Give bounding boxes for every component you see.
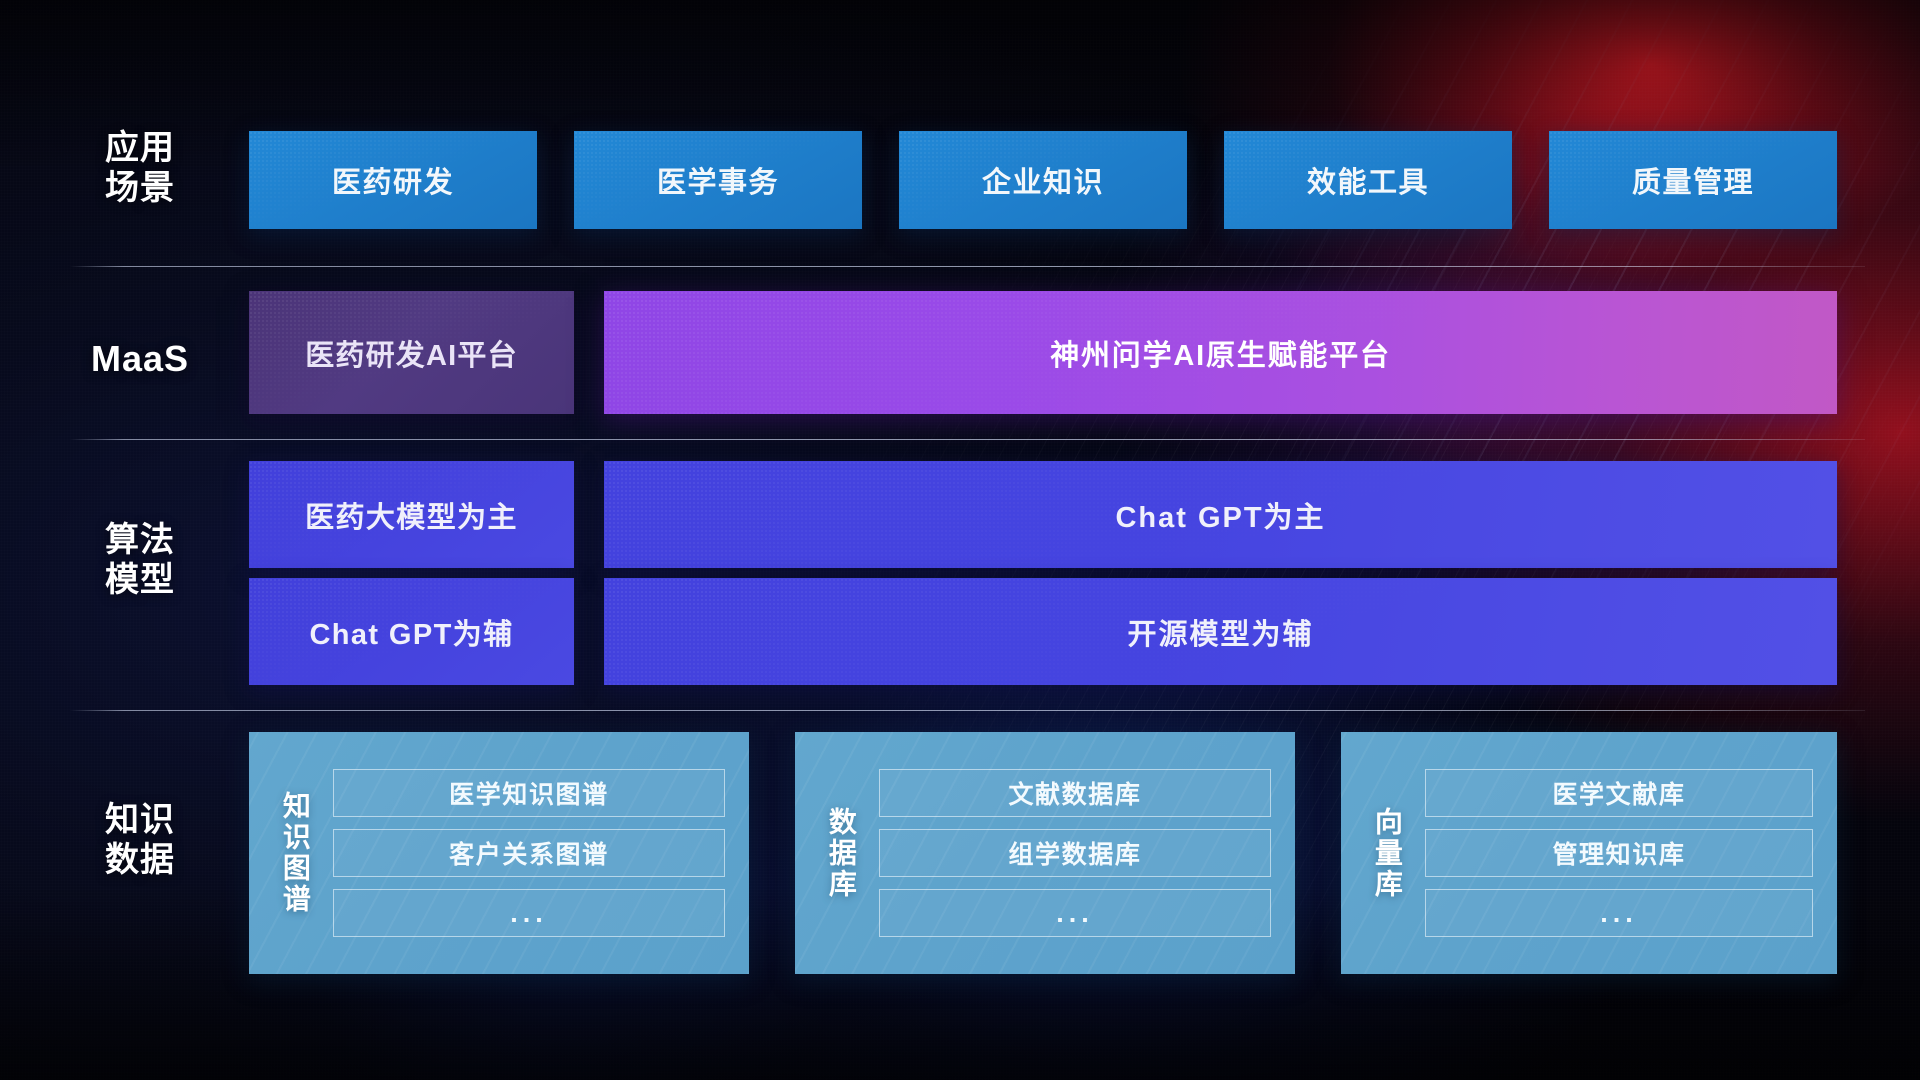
knowledge-item[interactable]: 组学数据库 (879, 829, 1271, 877)
knowledge-panel-items: 医学文献库 管理知识库 ... (1425, 769, 1813, 937)
maas-box-label: 医药研发AI平台 (305, 332, 518, 374)
maas-box-shenzhou-wenxue-platform[interactable]: 神州问学AI原生赋能平台 (604, 291, 1837, 414)
knowledge-panel-database[interactable]: 数据库 文献数据库 组学数据库 ... (795, 732, 1295, 974)
algo-box-label: Chat GPT为主 (1115, 494, 1325, 536)
knowledge-item[interactable]: 文献数据库 (879, 769, 1271, 817)
knowledge-item-more[interactable]: ... (1425, 889, 1813, 937)
divider-application-maas (70, 266, 1865, 267)
maas-box-label: 神州问学AI原生赋能平台 (1050, 332, 1391, 374)
app-box-efficiency-tools[interactable]: 效能工具 (1224, 131, 1512, 229)
row-label-application: 应用 场景 (70, 128, 210, 208)
knowledge-panel-title: 知识图谱 (279, 791, 311, 915)
knowledge-panel-items: 医学知识图谱 客户关系图谱 ... (333, 769, 725, 937)
row-label-maas: MaaS (70, 338, 210, 380)
knowledge-panel-vector-store[interactable]: 向量库 医学文献库 管理知识库 ... (1341, 732, 1837, 974)
algo-box-chatgpt-secondary[interactable]: Chat GPT为辅 (249, 578, 574, 685)
row-label-knowledge: 知识 数据 (70, 800, 210, 880)
algo-box-label: 开源模型为辅 (1127, 611, 1313, 653)
algo-box-opensource-secondary[interactable]: 开源模型为辅 (604, 578, 1837, 685)
app-box-medical-affairs[interactable]: 医学事务 (574, 131, 862, 229)
divider-algorithm-knowledge (70, 710, 1865, 711)
app-box-label: 企业知识 (982, 159, 1104, 201)
app-box-label: 效能工具 (1307, 159, 1429, 201)
knowledge-item-more[interactable]: ... (879, 889, 1271, 937)
knowledge-panel-items: 文献数据库 组学数据库 ... (879, 769, 1271, 937)
app-box-label: 质量管理 (1632, 159, 1754, 201)
divider-maas-algorithm (70, 439, 1865, 440)
maas-box-medicine-ai-platform[interactable]: 医药研发AI平台 (249, 291, 574, 414)
knowledge-item[interactable]: 医学文献库 (1425, 769, 1813, 817)
app-box-quality-management[interactable]: 质量管理 (1549, 131, 1837, 229)
knowledge-panel-knowledge-graph[interactable]: 知识图谱 医学知识图谱 客户关系图谱 ... (249, 732, 749, 974)
algo-box-medicine-llm-primary[interactable]: 医药大模型为主 (249, 461, 574, 568)
app-box-enterprise-knowledge[interactable]: 企业知识 (899, 131, 1187, 229)
app-box-label: 医药研发 (332, 159, 454, 201)
knowledge-item[interactable]: 管理知识库 (1425, 829, 1813, 877)
app-box-medicine-rnd[interactable]: 医药研发 (249, 131, 537, 229)
knowledge-panel-title: 数据库 (825, 807, 857, 900)
row-label-algorithm: 算法 模型 (70, 520, 210, 600)
knowledge-panel-title: 向量库 (1371, 807, 1403, 900)
algo-box-chatgpt-primary[interactable]: Chat GPT为主 (604, 461, 1837, 568)
knowledge-item-more[interactable]: ... (333, 889, 725, 937)
knowledge-item[interactable]: 客户关系图谱 (333, 829, 725, 877)
diagram-canvas: 应用 场景 医药研发 医学事务 企业知识 效能工具 质量管理 MaaS 医药研发… (0, 0, 1920, 1080)
app-box-label: 医学事务 (657, 159, 779, 201)
algo-box-label: 医药大模型为主 (305, 494, 518, 536)
knowledge-item[interactable]: 医学知识图谱 (333, 769, 725, 817)
algo-box-label: Chat GPT为辅 (309, 611, 513, 653)
